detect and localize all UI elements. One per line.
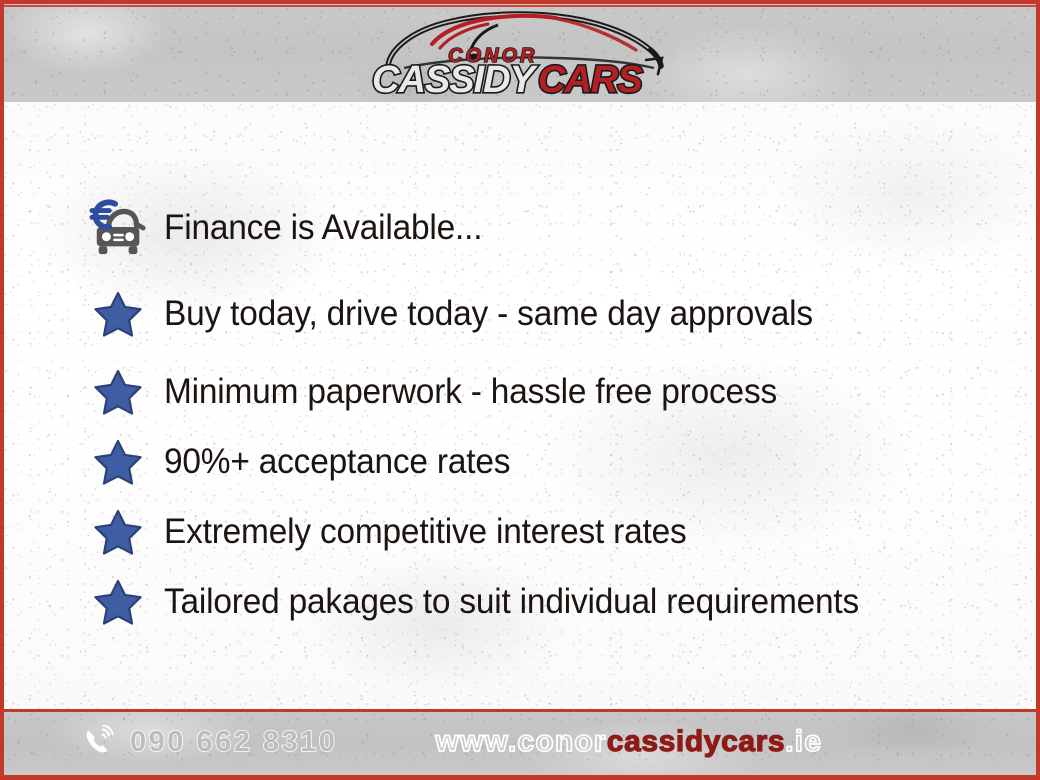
content-area: Finance is Available... Buy today, drive… bbox=[4, 102, 1036, 709]
header-top-red-line bbox=[4, 5, 1036, 7]
list-item: Finance is Available... bbox=[92, 196, 1006, 260]
list-item: 90%+ acceptance rates bbox=[92, 430, 1006, 494]
star-glyph bbox=[94, 291, 142, 337]
list-item-label: Buy today, drive today - same day approv… bbox=[164, 296, 968, 333]
website-tld: .ie bbox=[785, 725, 822, 759]
list-item-label: Extremely competitive interest rates bbox=[164, 514, 968, 551]
phone-number[interactable]: 090 662 8310 bbox=[130, 726, 337, 759]
star-icon bbox=[92, 291, 164, 337]
list-item: Tailored pakages to suit individual requ… bbox=[92, 570, 1006, 634]
header-band: CONOR CASSIDY CARS bbox=[4, 4, 1036, 102]
car-euro-finance-glyph bbox=[88, 198, 150, 258]
brand-logo-graphic: CONOR CASSIDY CARS bbox=[370, 8, 670, 100]
star-glyph bbox=[94, 439, 142, 485]
star-icon bbox=[92, 369, 164, 415]
star-icon bbox=[92, 579, 164, 625]
star-glyph bbox=[94, 509, 142, 555]
phone-ringing-glyph bbox=[82, 725, 116, 759]
footer-band: 090 662 8310 www.conorcassidycars.ie bbox=[4, 709, 1036, 775]
list-item: Extremely competitive interest rates bbox=[92, 500, 1006, 564]
star-glyph bbox=[94, 579, 142, 625]
brand-logo[interactable]: CONOR CASSIDY CARS bbox=[370, 8, 670, 100]
list-item-label: Finance is Available... bbox=[164, 210, 968, 247]
star-icon bbox=[92, 439, 164, 485]
star-glyph bbox=[94, 369, 142, 415]
benefits-list: Finance is Available... Buy today, drive… bbox=[4, 102, 1036, 709]
phone-contact[interactable]: 090 662 8310 bbox=[82, 725, 337, 759]
website-prefix: www.conor bbox=[435, 725, 606, 759]
list-item: Minimum paperwork - hassle free process bbox=[92, 360, 1006, 424]
car-euro-finance-icon bbox=[92, 198, 164, 258]
svg-text:CARS: CARS bbox=[538, 59, 642, 100]
list-item-label: Tailored pakages to suit individual requ… bbox=[164, 584, 968, 621]
phone-ringing-icon bbox=[82, 725, 116, 759]
star-icon bbox=[92, 509, 164, 555]
svg-text:CASSIDY: CASSIDY bbox=[372, 59, 539, 100]
website-url[interactable]: www.conorcassidycars.ie bbox=[435, 725, 822, 759]
list-item-label: 90%+ acceptance rates bbox=[164, 444, 968, 481]
finance-promo-poster: CONOR CASSIDY CARS bbox=[0, 0, 1040, 780]
list-item-label: Minimum paperwork - hassle free process bbox=[164, 374, 968, 411]
website-brand: cassidycars bbox=[607, 725, 785, 759]
list-item: Buy today, drive today - same day approv… bbox=[92, 282, 1006, 346]
